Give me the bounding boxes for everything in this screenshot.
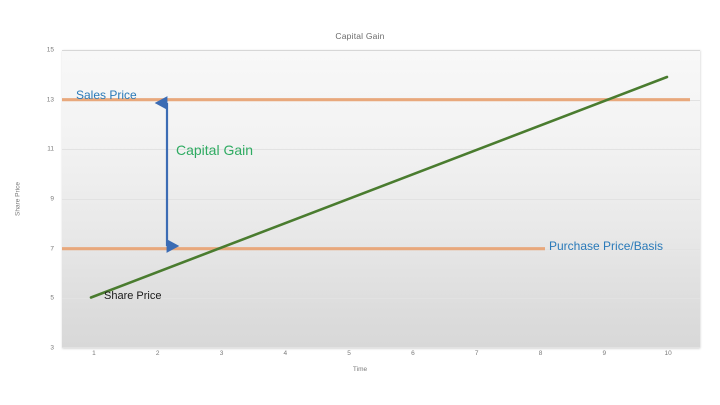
gridline-15 xyxy=(62,50,700,51)
y-tick-11: 11 xyxy=(14,146,54,153)
purchase-price-label: Purchase Price/Basis xyxy=(549,239,663,253)
y-tick-13: 13 xyxy=(14,96,54,103)
x-tick-7: 7 xyxy=(457,350,497,357)
chart-container: Capital Gain 15 13 11 9 7 5 3 1 2 3 4 5 … xyxy=(0,0,720,405)
capital-gain-label: Capital Gain xyxy=(176,142,253,158)
x-tick-2: 2 xyxy=(138,350,178,357)
x-tick-4: 4 xyxy=(265,350,305,357)
share-price-label: Share Price xyxy=(104,290,161,302)
y-tick-3: 3 xyxy=(14,345,54,352)
y-tick-5: 5 xyxy=(14,295,54,302)
y-axis-title: Share Price xyxy=(15,182,22,216)
x-tick-1: 1 xyxy=(74,350,114,357)
y-tick-7: 7 xyxy=(14,245,54,252)
x-tick-5: 5 xyxy=(329,350,369,357)
chart-title: Capital Gain xyxy=(0,31,720,41)
plot-area xyxy=(62,50,700,348)
x-axis-title: Time xyxy=(0,366,720,373)
x-tick-9: 9 xyxy=(584,350,624,357)
x-tick-6: 6 xyxy=(393,350,433,357)
y-tick-15: 15 xyxy=(14,47,54,54)
gridline-13 xyxy=(62,100,700,101)
x-tick-10: 10 xyxy=(648,350,688,357)
gridline-11 xyxy=(62,149,700,150)
gridline-3 xyxy=(62,347,700,348)
sales-price-label: Sales Price xyxy=(76,88,137,102)
x-tick-8: 8 xyxy=(521,350,561,357)
gridline-9 xyxy=(62,199,700,200)
x-tick-3: 3 xyxy=(202,350,242,357)
